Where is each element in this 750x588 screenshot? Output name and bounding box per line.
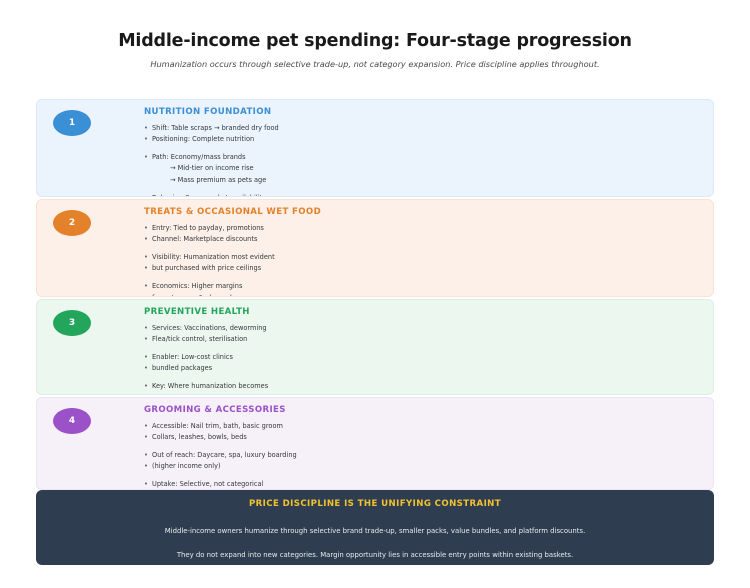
stage-bullets-4: Accessible: Nail trim, bath, basic groom… bbox=[144, 421, 703, 490]
bullet-item: but purchased with price ceilings bbox=[144, 263, 703, 275]
page-header: Middle-income pet spending: Four-stage p… bbox=[0, 0, 750, 70]
stage-card-3: 3 PREVENTIVE HEALTH Services: Vaccinatio… bbox=[36, 299, 714, 395]
stage-heading-1: NUTRITION FOUNDATION bbox=[144, 106, 703, 119]
bullet-group: Uptake: Selective, not categorical Acces… bbox=[144, 479, 703, 490]
bullet-group: Out of reach: Daycare, spa, luxury board… bbox=[144, 450, 703, 473]
stage-number-badge-3: 3 bbox=[53, 310, 91, 336]
bullet-group: Path: Economy/mass brands → Mid-tier on … bbox=[144, 152, 703, 187]
banner-line-2: They do not expand into new categories. … bbox=[36, 550, 714, 560]
stage-bullets-2: Entry: Tied to payday, promotions Channe… bbox=[144, 223, 703, 297]
bullet-subitem: → Mass premium as pets age bbox=[144, 175, 703, 187]
page-subtitle: Humanization occurs through selective tr… bbox=[40, 59, 710, 70]
stage-heading-4: GROOMING & ACCESSORIES bbox=[144, 404, 703, 417]
bullet-item: Behavior: Supermarket availability bbox=[144, 193, 703, 197]
bullet-group: Accessible: Nail trim, bath, basic groom… bbox=[144, 421, 703, 444]
stage-card-4: 4 GROOMING & ACCESSORIES Accessible: Nai… bbox=[36, 397, 714, 490]
page-title: Middle-income pet spending: Four-stage p… bbox=[40, 30, 710, 53]
summary-banner: PRICE DISCIPLINE IS THE UNIFYING CONSTRA… bbox=[36, 490, 714, 565]
bullet-group: Economics: Higher margins for pet owner … bbox=[144, 281, 703, 297]
bullet-group: Entry: Tied to payday, promotions Channe… bbox=[144, 223, 703, 246]
bullet-item: Uptake: Selective, not categorical bbox=[144, 479, 703, 490]
bullet-group: Enabler: Low-cost clinics bundled packag… bbox=[144, 352, 703, 375]
bullet-item: for pet owner & channel bbox=[144, 293, 703, 297]
stage-bullets-1: Shift: Table scraps → branded dry food P… bbox=[144, 123, 703, 197]
bullet-item: Economics: Higher margins bbox=[144, 281, 703, 293]
bullet-item: bundled packages bbox=[144, 363, 703, 375]
stage-body-1: NUTRITION FOUNDATION Shift: Table scraps… bbox=[144, 106, 703, 197]
bullet-group: Visibility: Humanization most evident bu… bbox=[144, 252, 703, 275]
bullet-item: (higher income only) bbox=[144, 461, 703, 473]
bullet-item: Visibility: Humanization most evident bbox=[144, 252, 703, 264]
bullet-item: Out of reach: Daycare, spa, luxury board… bbox=[144, 450, 703, 462]
bullet-group: Key: Where humanization becomes economic… bbox=[144, 381, 703, 395]
stage-card-1: 1 NUTRITION FOUNDATION Shift: Table scra… bbox=[36, 99, 714, 197]
stage-number-badge-4: 4 bbox=[53, 408, 91, 434]
bullet-item: Flea/tick control, sterilisation bbox=[144, 334, 703, 346]
infographic-page: Middle-income pet spending: Four-stage p… bbox=[0, 0, 750, 588]
bullet-item: Entry: Tied to payday, promotions bbox=[144, 223, 703, 235]
bullet-item: Path: Economy/mass brands bbox=[144, 152, 703, 164]
banner-title: PRICE DISCIPLINE IS THE UNIFYING CONSTRA… bbox=[36, 499, 714, 509]
stage-body-4: GROOMING & ACCESSORIES Accessible: Nail … bbox=[144, 404, 703, 490]
stage-card-2: 2 TREATS & OCCASIONAL WET FOOD Entry: Ti… bbox=[36, 199, 714, 297]
stage-list: 1 NUTRITION FOUNDATION Shift: Table scra… bbox=[36, 99, 714, 492]
stage-number-badge-1: 1 bbox=[53, 110, 91, 136]
stage-body-2: TREATS & OCCASIONAL WET FOOD Entry: Tied… bbox=[144, 206, 703, 297]
bullet-item: Enabler: Low-cost clinics bbox=[144, 352, 703, 364]
bullet-item: Accessible: Nail trim, bath, basic groom bbox=[144, 421, 703, 433]
bullet-group: Behavior: Supermarket availability bbox=[144, 193, 703, 197]
stage-body-3: PREVENTIVE HEALTH Services: Vaccinations… bbox=[144, 306, 703, 395]
stage-heading-2: TREATS & OCCASIONAL WET FOOD bbox=[144, 206, 703, 219]
stage-bullets-3: Services: Vaccinations, deworming Flea/t… bbox=[144, 323, 703, 395]
stage-number-badge-2: 2 bbox=[53, 210, 91, 236]
banner-line-1: Middle-income owners humanize through se… bbox=[36, 526, 714, 536]
bullet-group: Services: Vaccinations, deworming Flea/t… bbox=[144, 323, 703, 346]
stage-heading-3: PREVENTIVE HEALTH bbox=[144, 306, 703, 319]
bullet-item: Positioning: Complete nutrition bbox=[144, 134, 703, 146]
bullet-item: Key: Where humanization becomes bbox=[144, 381, 703, 393]
bullet-group: Shift: Table scraps → branded dry food P… bbox=[144, 123, 703, 146]
bullet-subitem: → Mid-tier on income rise bbox=[144, 163, 703, 175]
bullet-item: economically tangible bbox=[144, 393, 703, 395]
bullet-item: Services: Vaccinations, deworming bbox=[144, 323, 703, 335]
bullet-item: Shift: Table scraps → branded dry food bbox=[144, 123, 703, 135]
bullet-item: Collars, leashes, bowls, beds bbox=[144, 432, 703, 444]
bullet-item: Channel: Marketplace discounts bbox=[144, 234, 703, 246]
